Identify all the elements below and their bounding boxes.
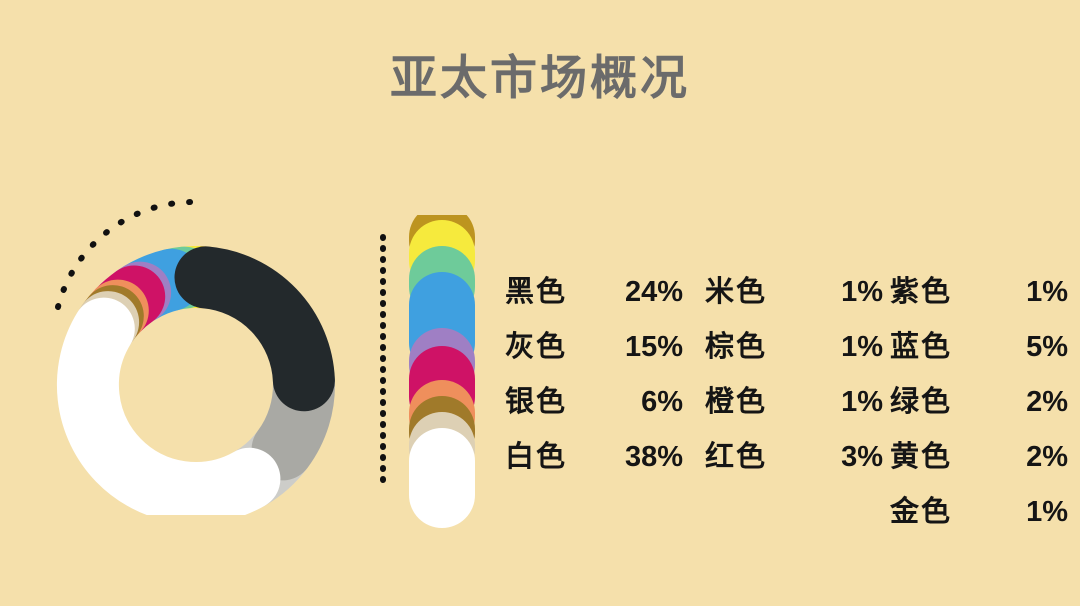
- legend-column-1: 黑色 24% 灰色 15% 银色 6% 白色 38%: [505, 268, 705, 543]
- legend-label: 绿色: [890, 378, 982, 420]
- legend-label: 紫色: [890, 268, 982, 310]
- legend-item-brown: 棕色 1%: [705, 323, 890, 378]
- legend-label: 棕色: [705, 323, 797, 365]
- legend-label: 蓝色: [890, 323, 982, 365]
- legend-label: 银色: [505, 378, 597, 420]
- legend-item-orange: 橙色 1%: [705, 378, 890, 433]
- page-title: 亚太市场概况: [0, 52, 1080, 104]
- legend-value: 1%: [797, 386, 883, 419]
- legend-column-2: 米色 1% 棕色 1% 橙色 1% 红色 3%: [705, 268, 890, 543]
- legend-value: 2%: [982, 441, 1068, 474]
- legend-value: 5%: [982, 331, 1068, 364]
- legend-value: 3%: [797, 441, 883, 474]
- legend: 黑色 24% 灰色 15% 银色 6% 白色 38% 米色 1%: [505, 268, 1065, 543]
- legend-label: 橙色: [705, 378, 797, 420]
- legend-item-black: 黑色 24%: [505, 268, 705, 323]
- legend-item-green: 绿色 2%: [890, 378, 1065, 433]
- donut-chart: [40, 185, 360, 515]
- legend-label: 黑色: [505, 268, 597, 310]
- legend-value: 6%: [597, 386, 683, 419]
- legend-label: 米色: [705, 268, 797, 310]
- legend-label: 白色: [505, 433, 597, 475]
- legend-column-3: 紫色 1% 蓝色 5% 绿色 2% 黄色 2% 金色 1%: [890, 268, 1065, 543]
- legend-item-purple: 紫色 1%: [890, 268, 1065, 323]
- legend-value: 1%: [982, 496, 1068, 529]
- legend-item-gold: 金色 1%: [890, 488, 1065, 543]
- slide-canvas: 亚太市场概况: [0, 0, 1080, 606]
- legend-item-white: 白色 38%: [505, 433, 705, 488]
- legend-value: 2%: [982, 386, 1068, 419]
- donut-segment-white: [88, 329, 249, 493]
- donut-chart-svg: [40, 185, 360, 515]
- legend-value: 24%: [597, 276, 683, 309]
- legend-label: 金色: [890, 488, 982, 530]
- donut-segment-black: [206, 277, 304, 380]
- legend-value: 1%: [982, 276, 1068, 309]
- legend-item-blue: 蓝色 5%: [890, 323, 1065, 378]
- donut-segments: [88, 277, 304, 493]
- legend-value: 38%: [597, 441, 683, 474]
- legend-value: 1%: [797, 276, 883, 309]
- legend-label: 红色: [705, 433, 797, 475]
- legend-value: 1%: [797, 331, 883, 364]
- legend-item-silver: 银色 6%: [505, 378, 705, 433]
- legend-item-red: 红色 3%: [705, 433, 890, 488]
- legend-label: 灰色: [505, 323, 597, 365]
- legend-value: 15%: [597, 331, 683, 364]
- legend-item-beige: 米色 1%: [705, 268, 890, 323]
- stacked-bar-chart: [366, 215, 496, 560]
- legend-item-yellow: 黄色 2%: [890, 433, 1065, 488]
- stacked-bar-svg: [366, 215, 496, 560]
- legend-label: 黄色: [890, 433, 982, 475]
- legend-item-grey: 灰色 15%: [505, 323, 705, 378]
